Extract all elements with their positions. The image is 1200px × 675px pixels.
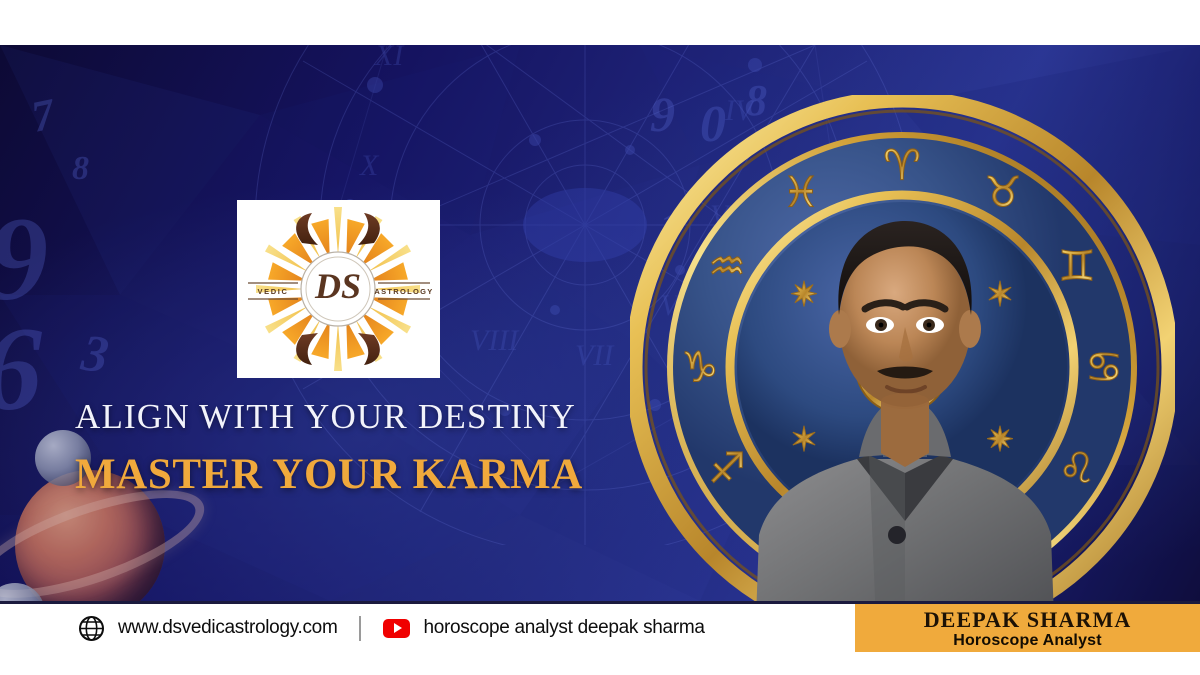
hero-banner: IIIIII IVVVI VIIVIIIIX XXIXII ♊♌ ♎♈ 7 9 … — [0, 45, 1200, 601]
svg-text:♈: ♈ — [883, 141, 921, 190]
footer-bar: www.dsvedicastrology.com horoscope analy… — [0, 601, 1200, 652]
logo-monogram: DS — [314, 266, 361, 306]
youtube-handle[interactable]: horoscope analyst deepak sharma — [423, 617, 704, 639]
svg-text:♐: ♐ — [708, 444, 746, 493]
bg-numeral-8: 8 — [72, 150, 89, 188]
headline-block: ALIGN WITH YOUR DESTINY MASTER YOUR KARM… — [75, 397, 635, 501]
brand-logo: DS VEDIC ASTROLOGY — [237, 200, 440, 378]
logo-left-text: VEDIC — [258, 287, 289, 296]
presenter-name: DEEPAK SHARMA — [924, 608, 1132, 631]
svg-text:♑: ♑ — [681, 343, 719, 392]
headline-primary: ALIGN WITH YOUR DESTINY — [75, 397, 635, 437]
banner-page: IIIIII IVVVI VIIVIIIIX XXIXII ♊♌ ♎♈ 7 9 … — [0, 0, 1200, 675]
footer-contact-group: www.dsvedicastrology.com horoscope analy… — [0, 604, 855, 652]
svg-text:♋: ♋ — [1085, 343, 1123, 392]
website-url[interactable]: www.dsvedicastrology.com — [118, 617, 337, 639]
presenter-name-badge: DEEPAK SHARMA Horoscope Analyst — [855, 604, 1200, 652]
globe-icon — [78, 615, 105, 642]
svg-text:♒: ♒ — [708, 242, 746, 291]
presenter-role: Horoscope Analyst — [953, 632, 1102, 650]
footer-separator — [359, 616, 361, 641]
play-triangle — [394, 623, 402, 633]
astrologer-portrait — [745, 205, 1065, 601]
youtube-icon[interactable] — [383, 619, 410, 638]
headline-secondary: MASTER YOUR KARMA — [75, 449, 635, 501]
logo-right-text: ASTROLOGY — [374, 287, 433, 296]
bg-numeral-6: 6 — [0, 300, 42, 438]
